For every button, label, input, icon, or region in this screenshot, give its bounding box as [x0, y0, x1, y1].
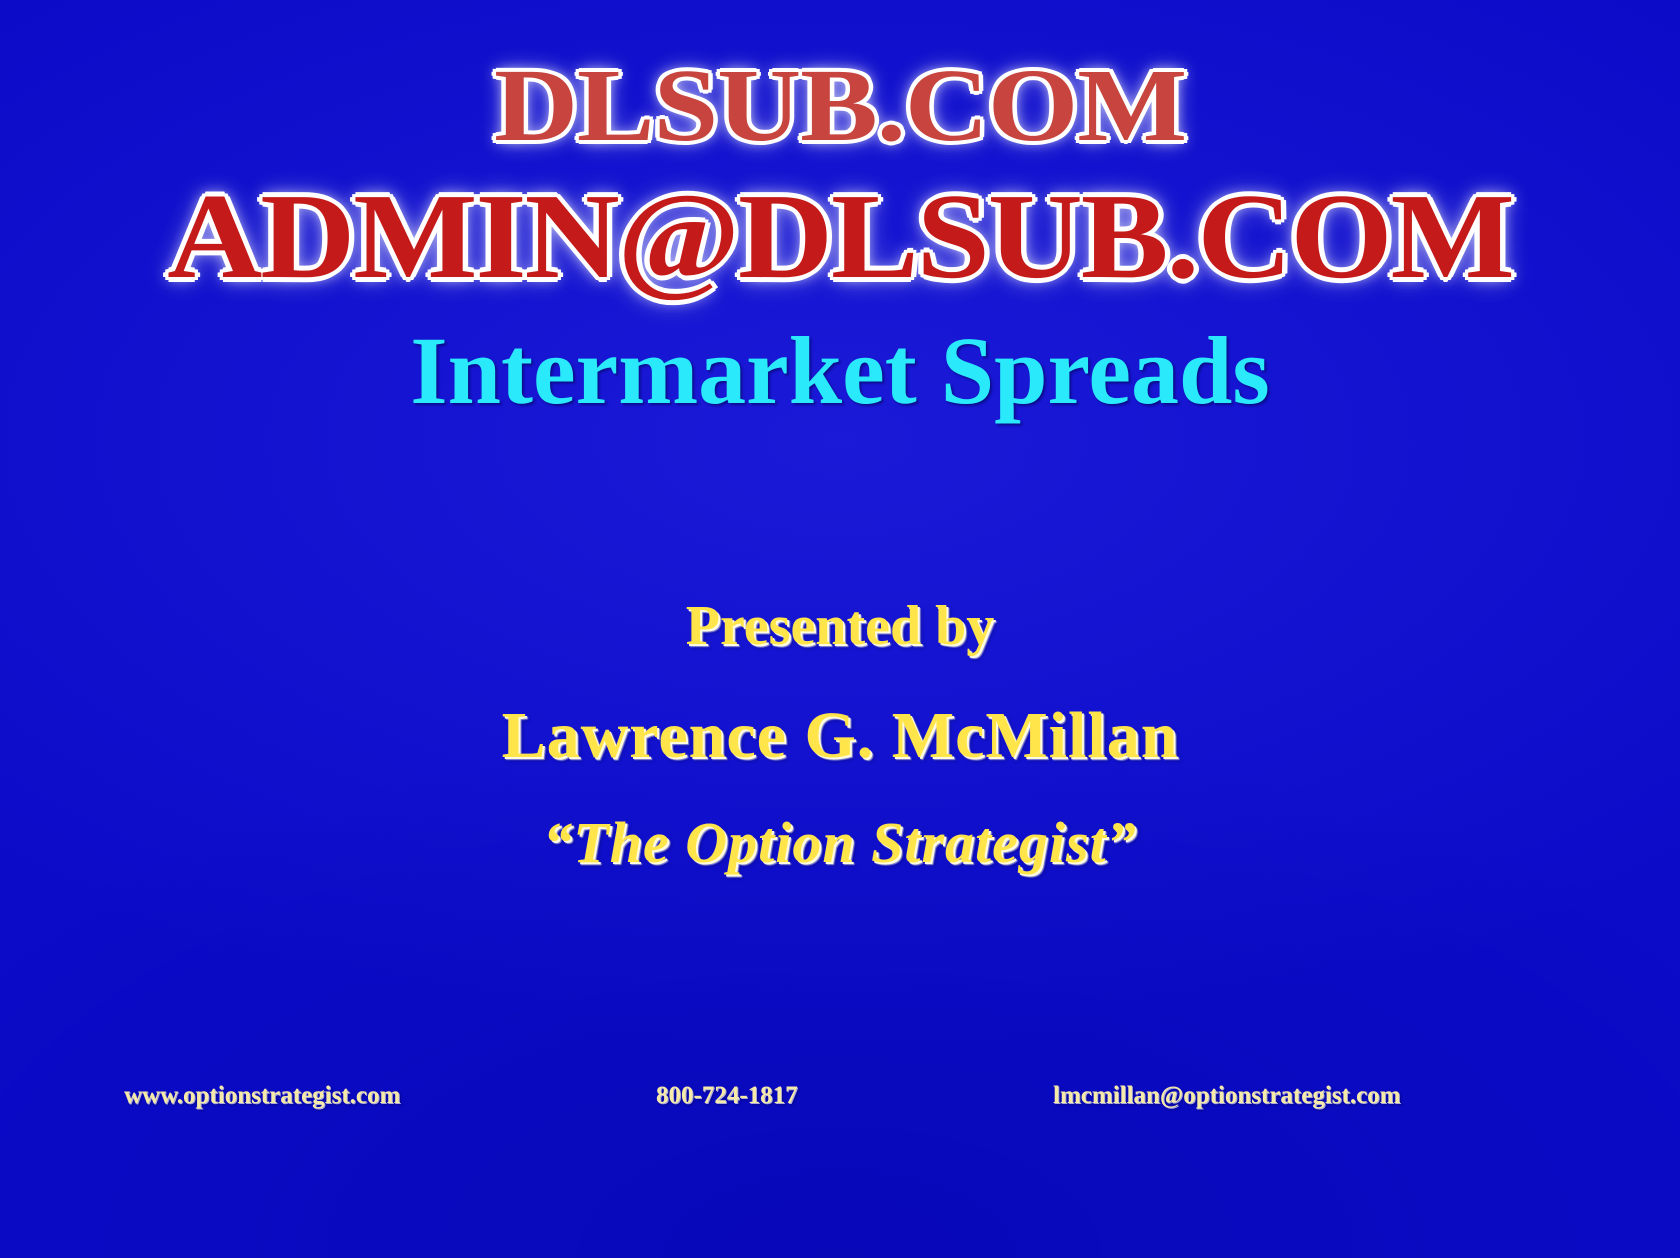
presented-by-label: Presented by — [0, 596, 1680, 656]
watermark-contact-email: ADMIN@DLSUB.COM — [0, 176, 1680, 298]
presentation-slide: DLSUB.COM ADMIN@DLSUB.COM Intermarket Sp… — [0, 0, 1680, 1258]
footer-website: www.optionstrategist.com — [124, 1082, 400, 1110]
watermark-site-url: DLSUB.COM — [0, 54, 1680, 158]
footer-phone-number: 800-724-1817 — [656, 1082, 798, 1110]
presenter-name: Lawrence G. McMillan — [0, 700, 1680, 771]
footer-email-address: lmcmillan@optionstrategist.com — [1053, 1082, 1401, 1110]
presenter-block: Presented by Lawrence G. McMillan “The O… — [0, 596, 1680, 874]
footer-contact-bar: www.optionstrategist.com 800-724-1817 lm… — [0, 1082, 1680, 1132]
slide-title: Intermarket Spreads — [0, 316, 1680, 426]
presenter-tagline: “The Option Strategist” — [0, 812, 1680, 875]
